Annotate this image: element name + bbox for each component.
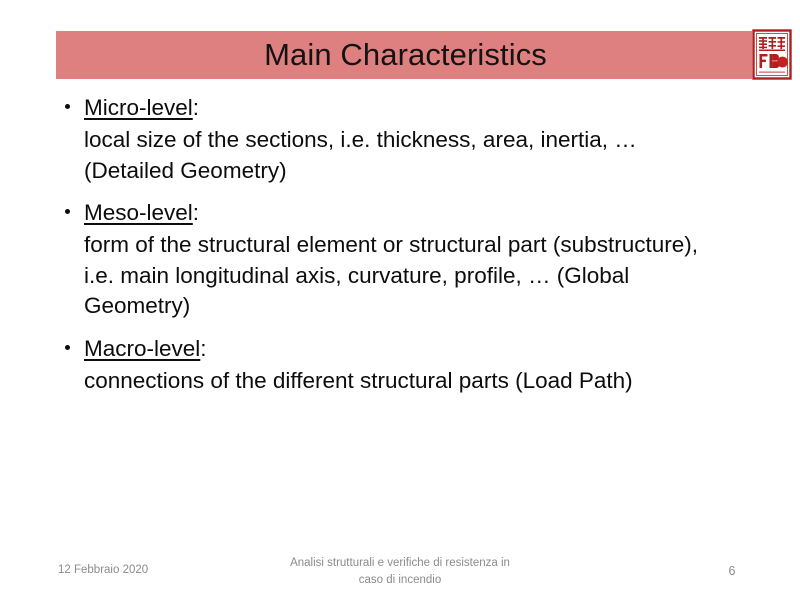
fb-seal-logo xyxy=(752,29,792,80)
footer-subtitle-line-2: caso di incendio xyxy=(240,572,560,589)
page-title: Main Characteristics xyxy=(56,31,755,79)
bullet-heading-colon: : xyxy=(200,336,206,361)
bullet-heading-colon: : xyxy=(193,200,199,225)
bullet-list: Micro-level: local size of the sections,… xyxy=(56,92,746,396)
bullet-dot-icon xyxy=(65,104,70,109)
bullet-body-micro: local size of the sections, i.e. thickne… xyxy=(56,125,732,186)
footer-subtitle-line-1: Analisi strutturali e verifiche di resis… xyxy=(240,555,560,572)
bullet-item-macro: Macro-level: connections of the differen… xyxy=(56,333,746,397)
bullet-body-macro: connections of the different structural … xyxy=(56,366,732,397)
bullet-item-meso: Meso-level: form of the structural eleme… xyxy=(56,197,746,322)
slide-footer: 12 Febbraio 2020 Analisi strutturali e v… xyxy=(0,552,800,596)
footer-date: 12 Febbraio 2020 xyxy=(58,564,148,576)
bullet-dot-icon xyxy=(65,209,70,214)
bullet-heading-colon: : xyxy=(193,95,199,120)
footer-subtitle: Analisi strutturali e verifiche di resis… xyxy=(240,555,560,589)
bullet-dot-icon xyxy=(65,345,70,350)
bullet-heading-text: Micro-level xyxy=(84,95,193,120)
bullet-heading-text: Meso-level xyxy=(84,200,193,225)
bullet-heading-meso: Meso-level: xyxy=(56,197,746,228)
bullet-heading-micro: Micro-level: xyxy=(56,92,746,123)
bullet-body-meso: form of the structural element or struct… xyxy=(56,230,732,322)
slide: Main Characteristics xyxy=(0,0,800,600)
bullet-item-micro: Micro-level: local size of the sections,… xyxy=(56,92,746,186)
bullet-heading-text: Macro-level xyxy=(84,336,200,361)
bullet-heading-macro: Macro-level: xyxy=(56,333,746,364)
slide-number: 6 xyxy=(700,564,764,578)
